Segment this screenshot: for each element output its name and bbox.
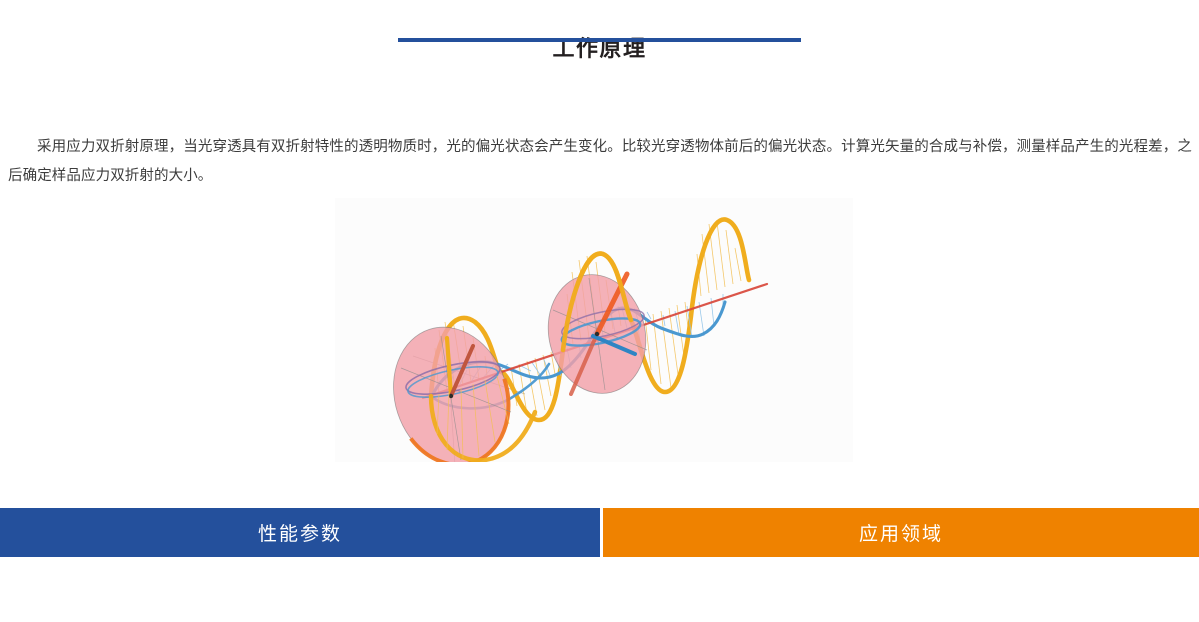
nav-item-performance-label: 性能参数 [258,519,342,546]
polarization-ellipse-right [536,264,658,404]
principle-description-text: 采用应力双折射原理，当光穿透具有双折射特性的透明物质时，光的偏光状态会产生变化。… [8,133,1192,191]
nav-item-application-label: 应用领域 [859,519,943,546]
polarization-ellipse-left [376,312,526,462]
polarization-wave-diagram [335,198,853,462]
bottom-nav-bar-row: 性能参数 应用领域 [0,508,1199,557]
principle-illustration [335,198,853,462]
nav-item-performance[interactable]: 性能参数 [0,508,600,557]
nav-item-application[interactable]: 应用领域 [603,508,1199,557]
title-underline-rule [398,38,801,42]
